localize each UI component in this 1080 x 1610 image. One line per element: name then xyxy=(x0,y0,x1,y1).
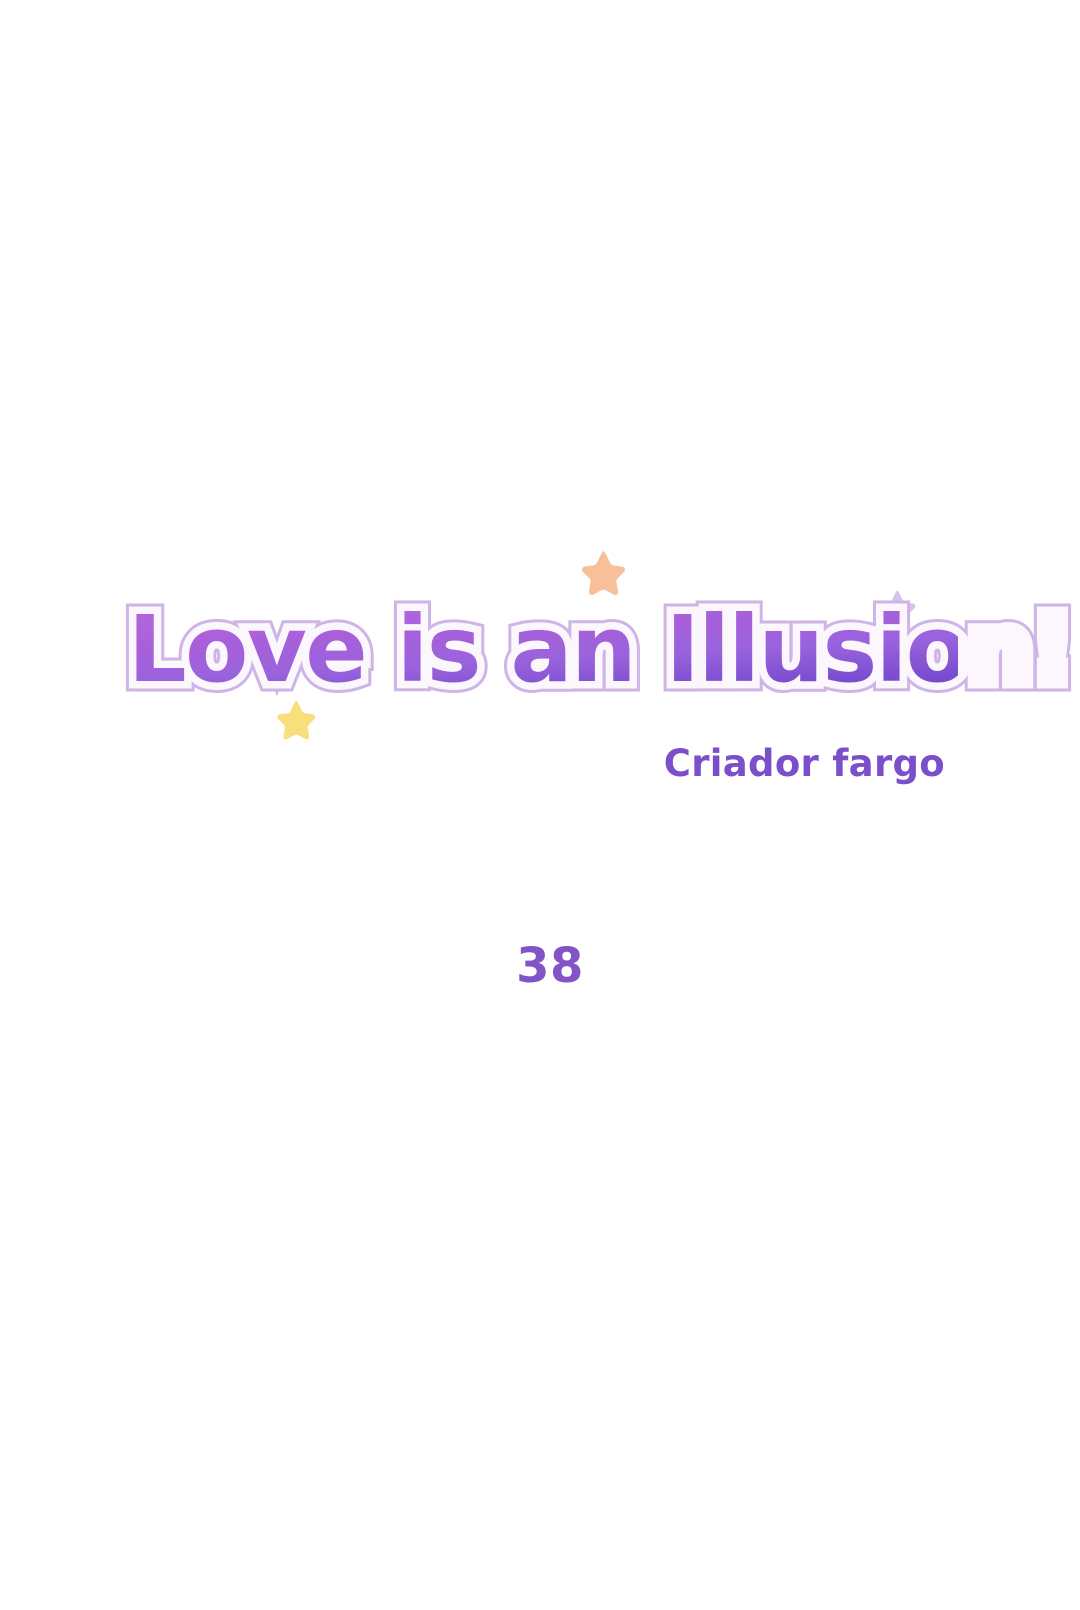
star-peach-icon xyxy=(576,548,628,598)
title-artwork: Love is an Illusion! Love is an Illusion… xyxy=(128,598,958,708)
comic-panel-area xyxy=(0,1010,1080,1610)
comic-title-page: Love is an Illusion! Love is an Illusion… xyxy=(0,0,1080,1610)
chapter-number: 38 xyxy=(0,938,1080,994)
credits-label: Criador fargo xyxy=(0,742,945,785)
page-title: Love is an Illusion! xyxy=(128,598,958,708)
